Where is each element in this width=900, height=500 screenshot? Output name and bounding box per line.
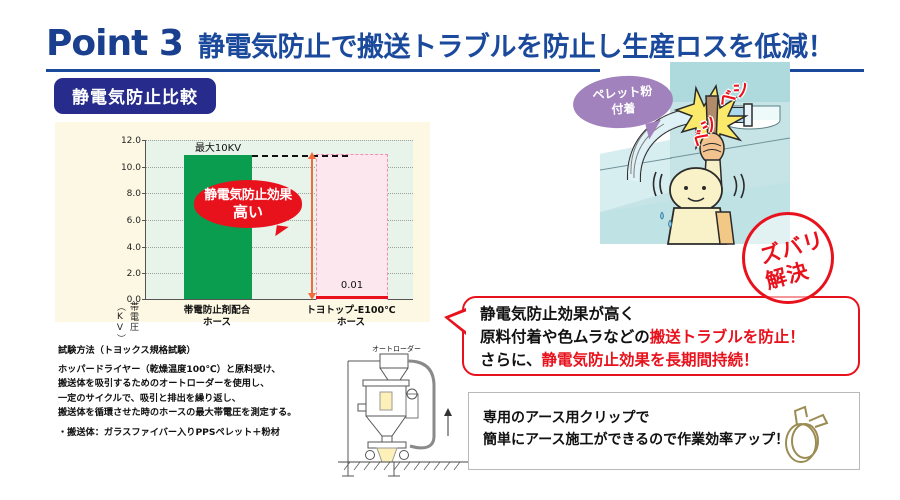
chart-plot-area: 12.0 10.0 8.0 6.0 4.0 2.0 0.0 最大10KV 0.0… <box>145 140 413 300</box>
earth-clip-icon <box>775 401 837 465</box>
x-label-2-line2: ホース <box>306 317 395 329</box>
chart-highlight-band <box>316 154 388 300</box>
chart-arrow-head-up <box>308 152 316 159</box>
test-method-line-3: 一定のサイクルで、吸引と排出を繰り返し、 <box>58 392 348 407</box>
benefit-line-1: 静電気防止効果が高く <box>480 303 858 326</box>
y-tick-4: 4.0 <box>127 243 141 253</box>
y-tick-2: 2.0 <box>127 269 141 279</box>
chart-callout-line2: 高い <box>203 204 293 221</box>
zubari-solution-stamp: ズバリ 解決 <box>742 212 834 304</box>
benefit-line-2-plain: 原料付着や色ムラなどの <box>480 328 650 346</box>
chart-y-axis-title: 帯電圧（KV） <box>114 302 140 344</box>
powder-adhesion-bubble: ペレット粉 付着 <box>571 73 674 132</box>
benefit-line-2-accent: 搬送トラブルを防止！ <box>650 328 805 346</box>
benefit-callout: 静電気防止効果が高く 原料付着や色ムラなどの搬送トラブルを防止！ さらに、静電気… <box>462 296 860 376</box>
bar-label-001: 0.01 <box>341 280 363 291</box>
y-tick-12: 12.0 <box>121 136 141 146</box>
x-label-2-line1: トヨトップ-E100℃ <box>306 305 395 317</box>
test-method-heading: 試験方法（トヨックス規格試験） <box>58 344 348 359</box>
chart-reference-line <box>252 155 348 157</box>
earth-clip-box: 専用のアース用クリップで 簡単にアース施工ができるので作業効率アップ！ <box>468 392 860 470</box>
section-badge: 静電気防止比較 <box>54 78 216 114</box>
chart-callout-bubble: 静電気防止効果 高い <box>194 180 302 228</box>
benefit-line-3: さらに、静電気防止効果を長期間持続！ <box>480 349 858 372</box>
callout-tail-inner <box>449 311 467 332</box>
point-label: Point 3 <box>46 22 183 66</box>
hopper-dryer-icon <box>330 340 480 490</box>
chart-difference-arrow <box>311 158 313 298</box>
y-tick-0: 0.0 <box>127 295 141 305</box>
x-label-1-line2: ホース <box>184 317 251 329</box>
chart-arrow-head-down <box>308 293 316 300</box>
test-method-text: 試験方法（トヨックス規格試験） ホッパードライヤー（乾燥温度100℃）と原料受け… <box>58 344 348 440</box>
chart-callout-line1: 静電気防止効果 <box>203 187 293 204</box>
benefit-line-3-plain: さらに、 <box>480 351 542 369</box>
test-method-line-1: ホッパードライヤー（乾燥温度100℃）と原料受け、 <box>58 363 348 378</box>
benefit-line-2: 原料付着や色ムラなどの搬送トラブルを防止！ <box>480 326 858 349</box>
x-label-toyotop-e100-hose: トヨトップ-E100℃ ホース <box>306 305 395 329</box>
chart-panel: 帯電圧（KV） 12.0 10.0 8.0 6.0 4.0 2.0 0.0 最大… <box>55 122 430 322</box>
hopper-dryer-diagram: オートローダー <box>330 340 480 490</box>
y-tick-8: 8.0 <box>127 189 141 199</box>
x-label-1-line1: 帯電防止剤配合 <box>184 305 251 317</box>
y-tick-6: 6.0 <box>127 216 141 226</box>
benefit-line-3-accent: 静電気防止効果を長期間持続！ <box>542 351 759 369</box>
infographic-page: Point 3 静電気防止で搬送トラブルを防止し生産ロスを低減！ 静電気防止比較… <box>0 0 900 500</box>
autoloader-caption: オートローダー <box>372 344 421 354</box>
test-method-line-4: 搬送体を循環させた時のホースの最大帯電圧を測定する。 <box>58 406 348 421</box>
x-label-antistatic-additive-hose: 帯電防止剤配合 ホース <box>184 305 251 329</box>
test-method-bullet: ・搬送体：ガラスファイバー入りPPSペレット＋粉材 <box>58 426 348 441</box>
test-method-line-2: 搬送体を吸引するためのオートローダーを使用し、 <box>58 377 348 392</box>
bar-toyotop-e100-hose <box>316 296 388 299</box>
bar-label-max-10kv: 最大10KV <box>195 139 241 154</box>
y-tick-10: 10.0 <box>121 163 141 173</box>
